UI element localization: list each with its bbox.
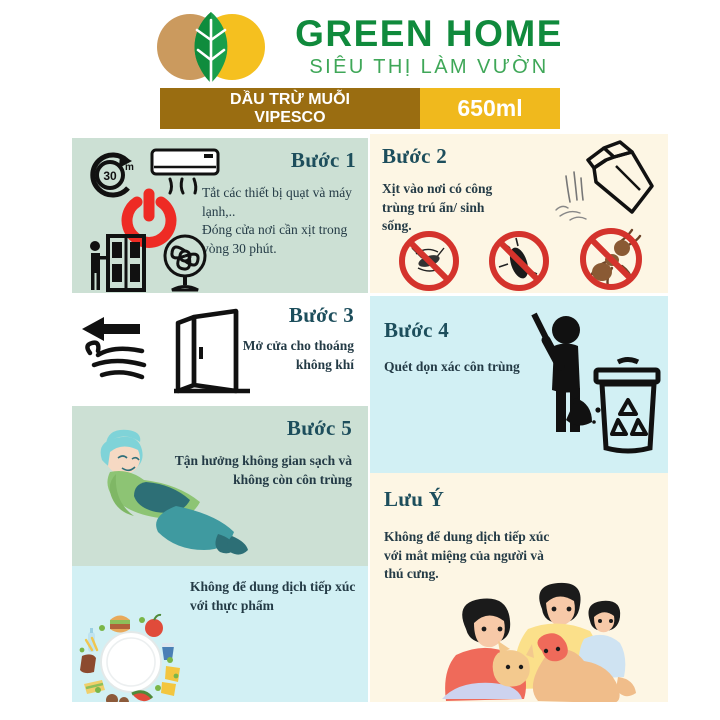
no-cockroach-icon	[488, 230, 550, 292]
spray-bottle-icon	[548, 138, 658, 224]
note-food-body-line-2: với thực phẩm	[190, 597, 368, 616]
wind-arrow-icon	[80, 313, 166, 383]
electric-fan-icon	[156, 234, 214, 292]
note-food-body-line-1: Không để dung dịch tiếp xúc	[190, 578, 368, 597]
svg-text:m: m	[125, 162, 134, 173]
product-name-line2: VIPESCO	[254, 109, 325, 127]
open-door-icon	[164, 305, 254, 397]
step-1-title: Bước 1	[291, 148, 356, 173]
panel-step-2: Bước 2 Xịt vào nơi có công trùng trú ẩn/…	[370, 134, 668, 293]
person-relaxing-icon	[80, 430, 260, 556]
panel-step-4: Bước 4 Quét dọn xác côn trùng	[370, 296, 668, 473]
step-1-body-line-3: Đóng cửa nơi cần xịt trong	[202, 221, 362, 240]
step-2-title: Bước 2	[382, 144, 447, 169]
step-2-body-line-1: Xịt vào nơi có công	[382, 180, 532, 199]
note-warning-title: Lưu Ý	[384, 487, 444, 512]
leaf-shape-icon	[184, 10, 238, 84]
step-2-body: Xịt vào nơi có công trùng trú ẩn/ sinh s…	[382, 180, 532, 236]
no-ant-icon	[578, 226, 644, 292]
panel-step-5: Bước 5 Tận hưởng không gian sạch và khôn…	[72, 406, 368, 566]
note-food-body: Không để dung dịch tiếp xúc với thực phẩ…	[190, 578, 368, 615]
step-1-body-line-4: vòng 30 phút.	[202, 240, 362, 259]
note-warning-body-line-1: Không để dung dịch tiếp xúc	[384, 528, 594, 547]
step-4-title: Bước 4	[384, 318, 449, 343]
person-at-door-icon	[86, 234, 148, 290]
brand-text: GREEN HOME SIÊU THỊ LÀM VƯỜN	[295, 15, 563, 79]
step-1-body: Tắt các thiết bị quạt và máy lạnh,.. Đón…	[202, 184, 362, 259]
step-1-body-line-1: Tắt các thiết bị quạt và máy	[202, 184, 362, 203]
product-bar: DẦU TRỪ MUỖI VIPESCO 650ml	[160, 88, 560, 129]
infographic-page: GREEN HOME SIÊU THỊ LÀM VƯỜN DẦU TRỪ MUỖ…	[0, 0, 720, 720]
food-plate-circle-icon	[76, 610, 186, 702]
step-1-body-line-2: lạnh,..	[202, 203, 362, 222]
air-conditioner-icon	[150, 148, 226, 196]
product-name-line1: DẦU TRỪ MUỖI	[230, 91, 350, 109]
panel-step-3: Bước 3 Mở cửa cho thoáng không khí	[72, 295, 368, 403]
brand-header: GREEN HOME SIÊU THỊ LÀM VƯỜN	[0, 6, 720, 88]
note-warning-body: Không để dung dịch tiếp xúc với mắt miện…	[384, 528, 594, 584]
timer-label: 30	[103, 169, 117, 183]
panel-step-1: Bước 1 Tắt các thiết bị quạt và máy lạnh…	[72, 138, 368, 293]
panel-note-warning: Lưu Ý Không để dung dịch tiếp xúc với mắ…	[370, 473, 668, 702]
no-mosquito-icon	[398, 230, 460, 292]
product-volume: 650ml	[420, 88, 560, 129]
panel-note-food: Không để dung dịch tiếp xúc với thực phẩ…	[72, 566, 368, 702]
step-2-body-line-2: trùng trú ẩn/ sinh	[382, 199, 532, 218]
note-warning-body-line-2: với mắt miệng của người và	[384, 547, 594, 566]
family-with-pets-icon	[422, 581, 654, 702]
product-name: DẦU TRỪ MUỖI VIPESCO	[160, 88, 420, 129]
trash-bin-recycle-icon	[592, 356, 664, 468]
brand-subtitle: SIÊU THỊ LÀM VƯỜN	[295, 56, 563, 79]
brand-title: GREEN HOME	[295, 15, 563, 53]
leaf-logo-icon	[157, 8, 285, 86]
